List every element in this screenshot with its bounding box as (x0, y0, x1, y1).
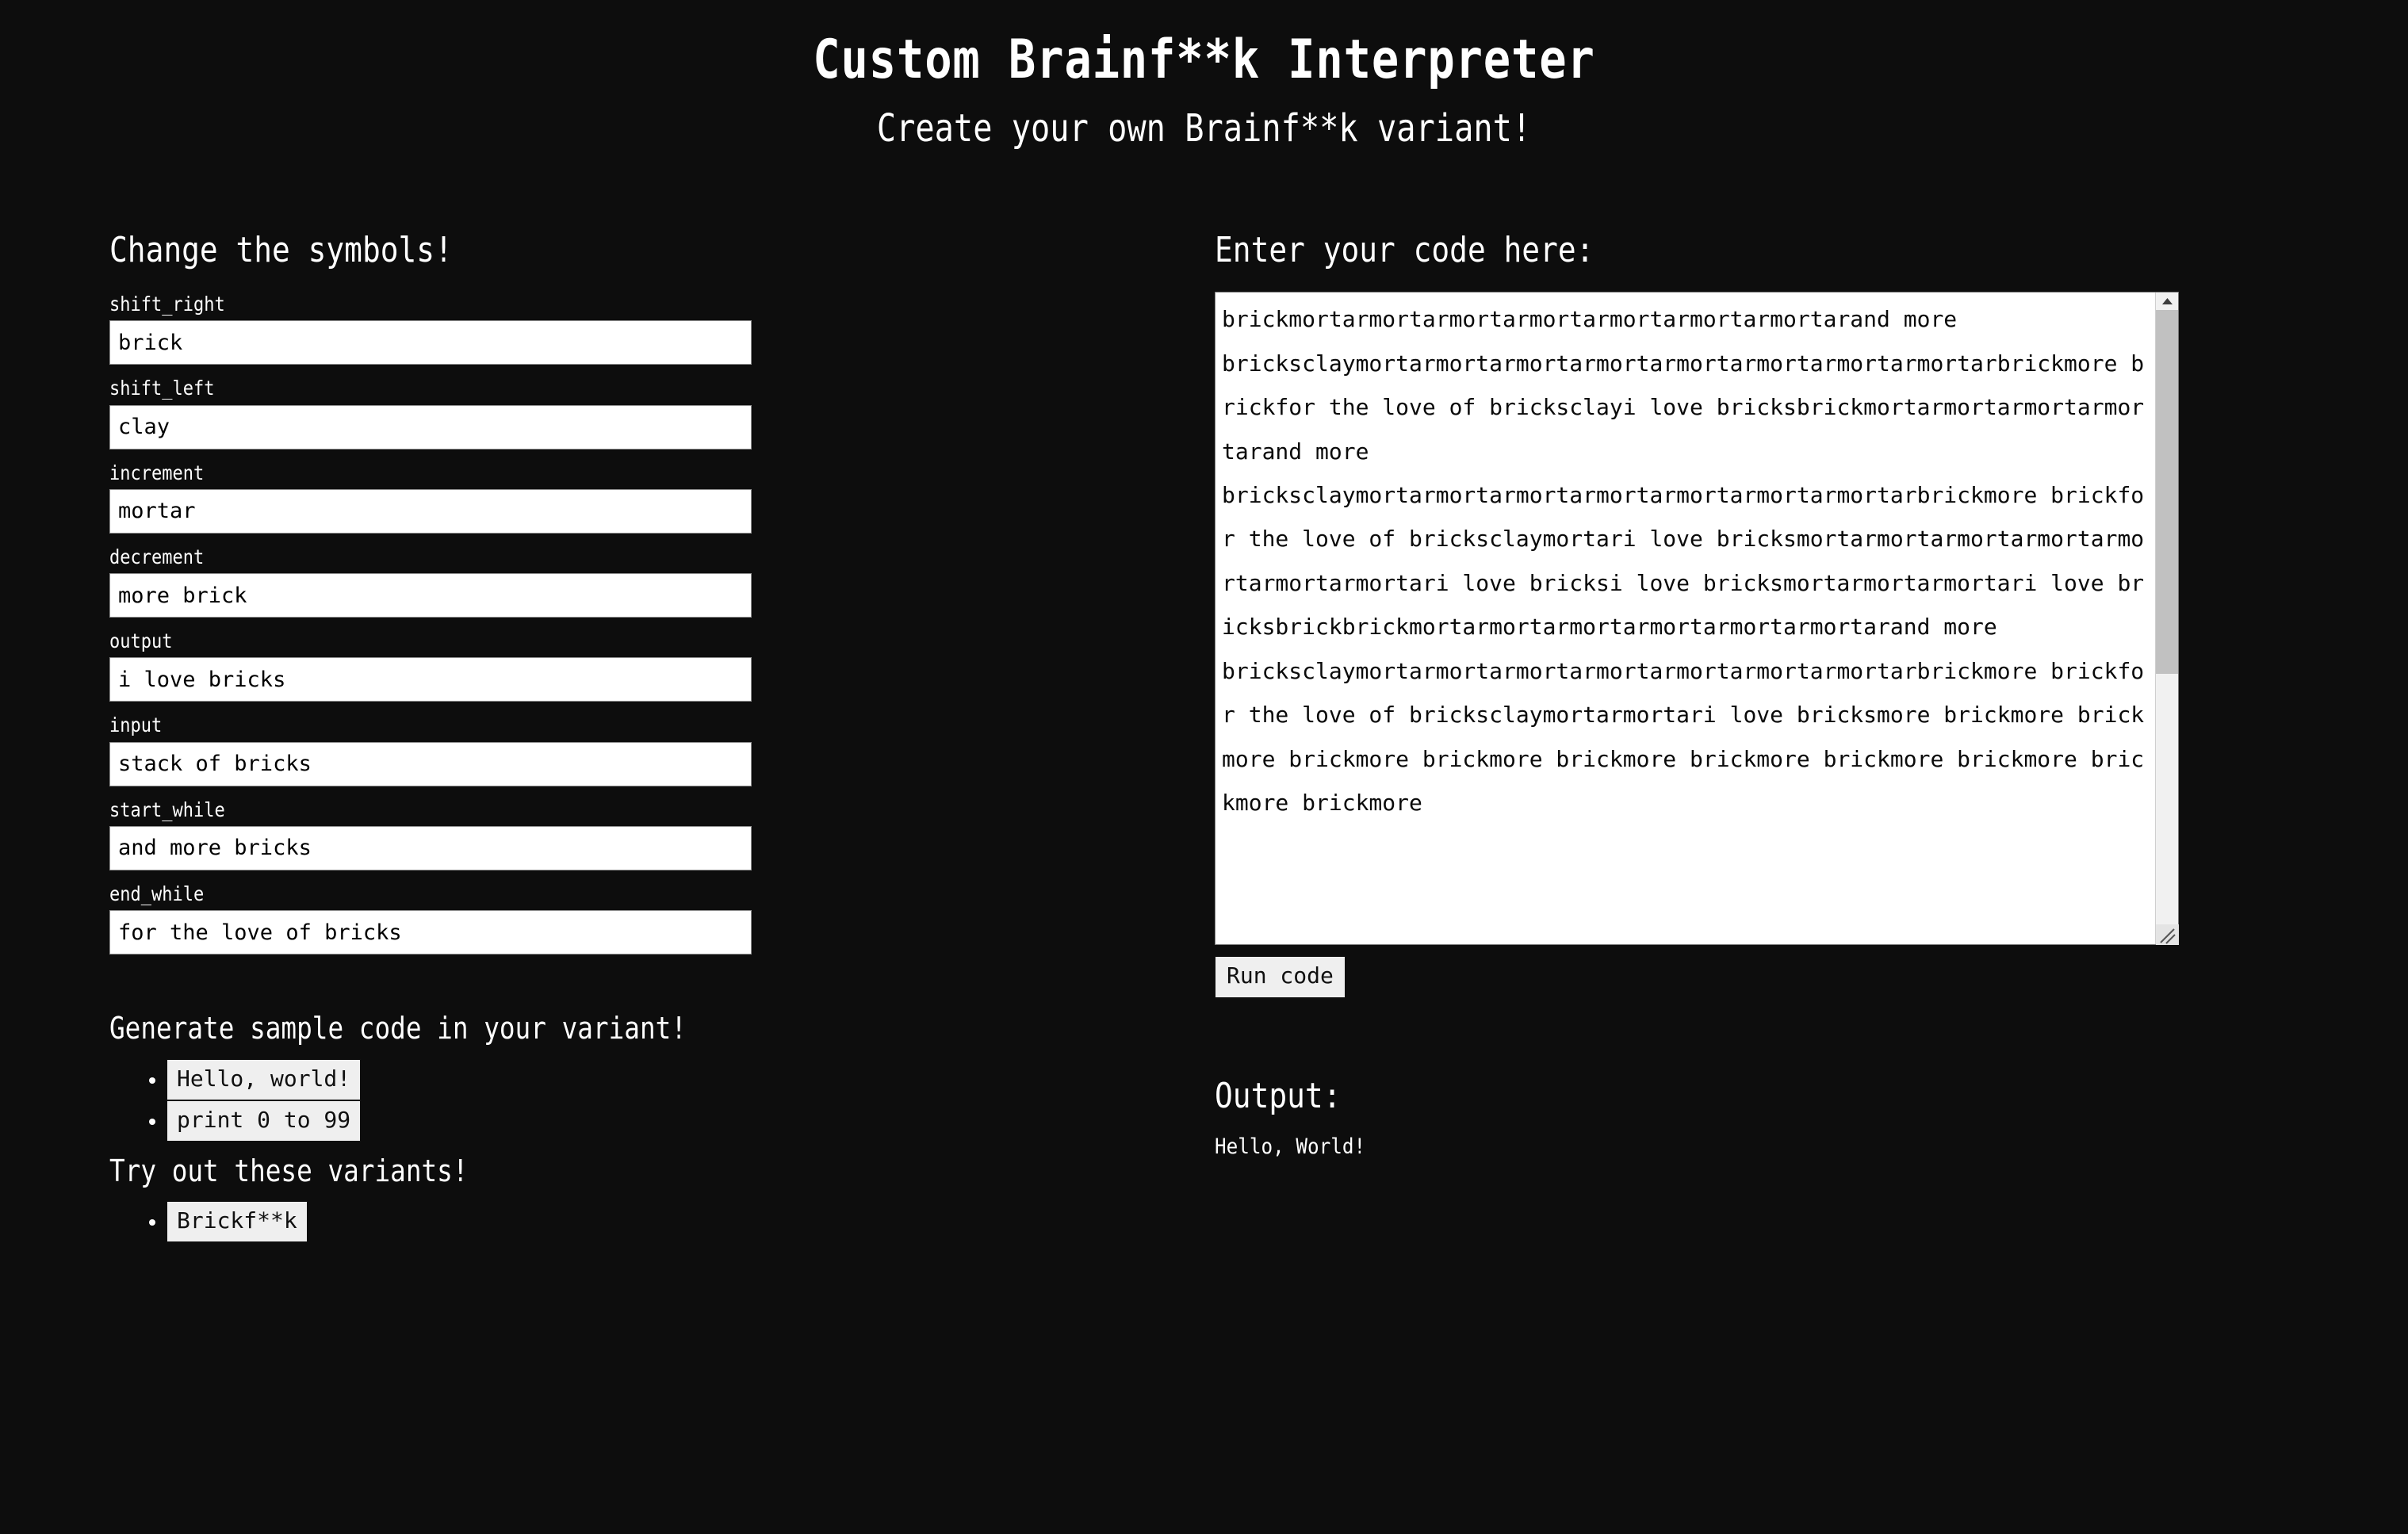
code-column: Enter your code here: brickmortarmortarm… (1205, 231, 2408, 1161)
label-output: output (109, 629, 1074, 653)
symbols-panel-title: Change the symbols! (109, 231, 1052, 270)
scrollbar-track[interactable] (2156, 310, 2178, 927)
sample-print-0-to-99-button[interactable]: print 0 to 99 (167, 1100, 361, 1142)
code-input[interactable]: brickmortarmortarmortarmortarmortarmorta… (1215, 292, 2179, 945)
samples-panel: Generate sample code in your variant! He… (109, 1012, 1205, 1141)
code-editor-wrap: brickmortarmortarmortarmortarmortarmorta… (1215, 292, 2179, 945)
sample-code-list: Hello, world! print 0 to 99 (109, 1059, 1205, 1142)
variant-list: Brickf**k (109, 1201, 1205, 1242)
variants-panel-title: Try out these variants! (109, 1154, 1052, 1189)
label-shift-left: shift_left (109, 376, 1074, 400)
input-increment[interactable] (109, 489, 752, 534)
field-input: input (109, 713, 1205, 786)
label-input: input (109, 713, 1074, 737)
input-output[interactable] (109, 657, 752, 702)
code-scrollbar[interactable] (2155, 293, 2178, 944)
list-item: Brickf**k (167, 1201, 1205, 1242)
output-text: Hello, World! (1215, 1133, 2289, 1161)
field-output: output (109, 629, 1205, 702)
field-end-while: end_while (109, 882, 1205, 954)
field-shift-left: shift_left (109, 376, 1205, 449)
field-start-while: start_while (109, 798, 1205, 870)
code-panel-title: Enter your code here: (1215, 231, 2241, 270)
list-item: Hello, world! (167, 1059, 1205, 1100)
list-item: print 0 to 99 (167, 1100, 1205, 1142)
label-increment: increment (109, 461, 1074, 485)
main-columns: Change the symbols! shift_right shift_le… (0, 231, 2408, 1242)
run-code-button[interactable]: Run code (1215, 956, 1346, 997)
symbols-column: Change the symbols! shift_right shift_le… (0, 231, 1205, 1242)
field-decrement: decrement (109, 545, 1205, 618)
scrollbar-thumb[interactable] (2156, 310, 2178, 674)
label-end-while: end_while (109, 882, 1074, 906)
variant-brickfk-button[interactable]: Brickf**k (167, 1201, 308, 1242)
input-start-while[interactable] (109, 826, 752, 870)
input-input[interactable] (109, 742, 752, 786)
input-end-while[interactable] (109, 910, 752, 954)
label-shift-right: shift_right (109, 292, 1074, 316)
field-increment: increment (109, 461, 1205, 534)
output-panel-title: Output: (1215, 1077, 2241, 1115)
samples-panel-title: Generate sample code in your variant! (109, 1012, 1052, 1046)
resize-grip-icon[interactable] (2156, 924, 2179, 945)
input-decrement[interactable] (109, 573, 752, 618)
input-shift-right[interactable] (109, 320, 752, 365)
label-start-while: start_while (109, 798, 1074, 822)
variants-panel: Try out these variants! Brickf**k (109, 1154, 1205, 1242)
label-decrement: decrement (109, 545, 1074, 569)
scroll-up-arrow-icon[interactable] (2156, 293, 2178, 310)
sample-hello-world-button[interactable]: Hello, world! (167, 1059, 361, 1100)
page-title: Custom Brainf**k Interpreter (193, 29, 2215, 92)
field-shift-right: shift_right (109, 292, 1205, 365)
input-shift-left[interactable] (109, 405, 752, 449)
page-subtitle: Create your own Brainf**k variant! (193, 106, 2215, 152)
page-header: Custom Brainf**k Interpreter Create your… (0, 0, 2408, 152)
